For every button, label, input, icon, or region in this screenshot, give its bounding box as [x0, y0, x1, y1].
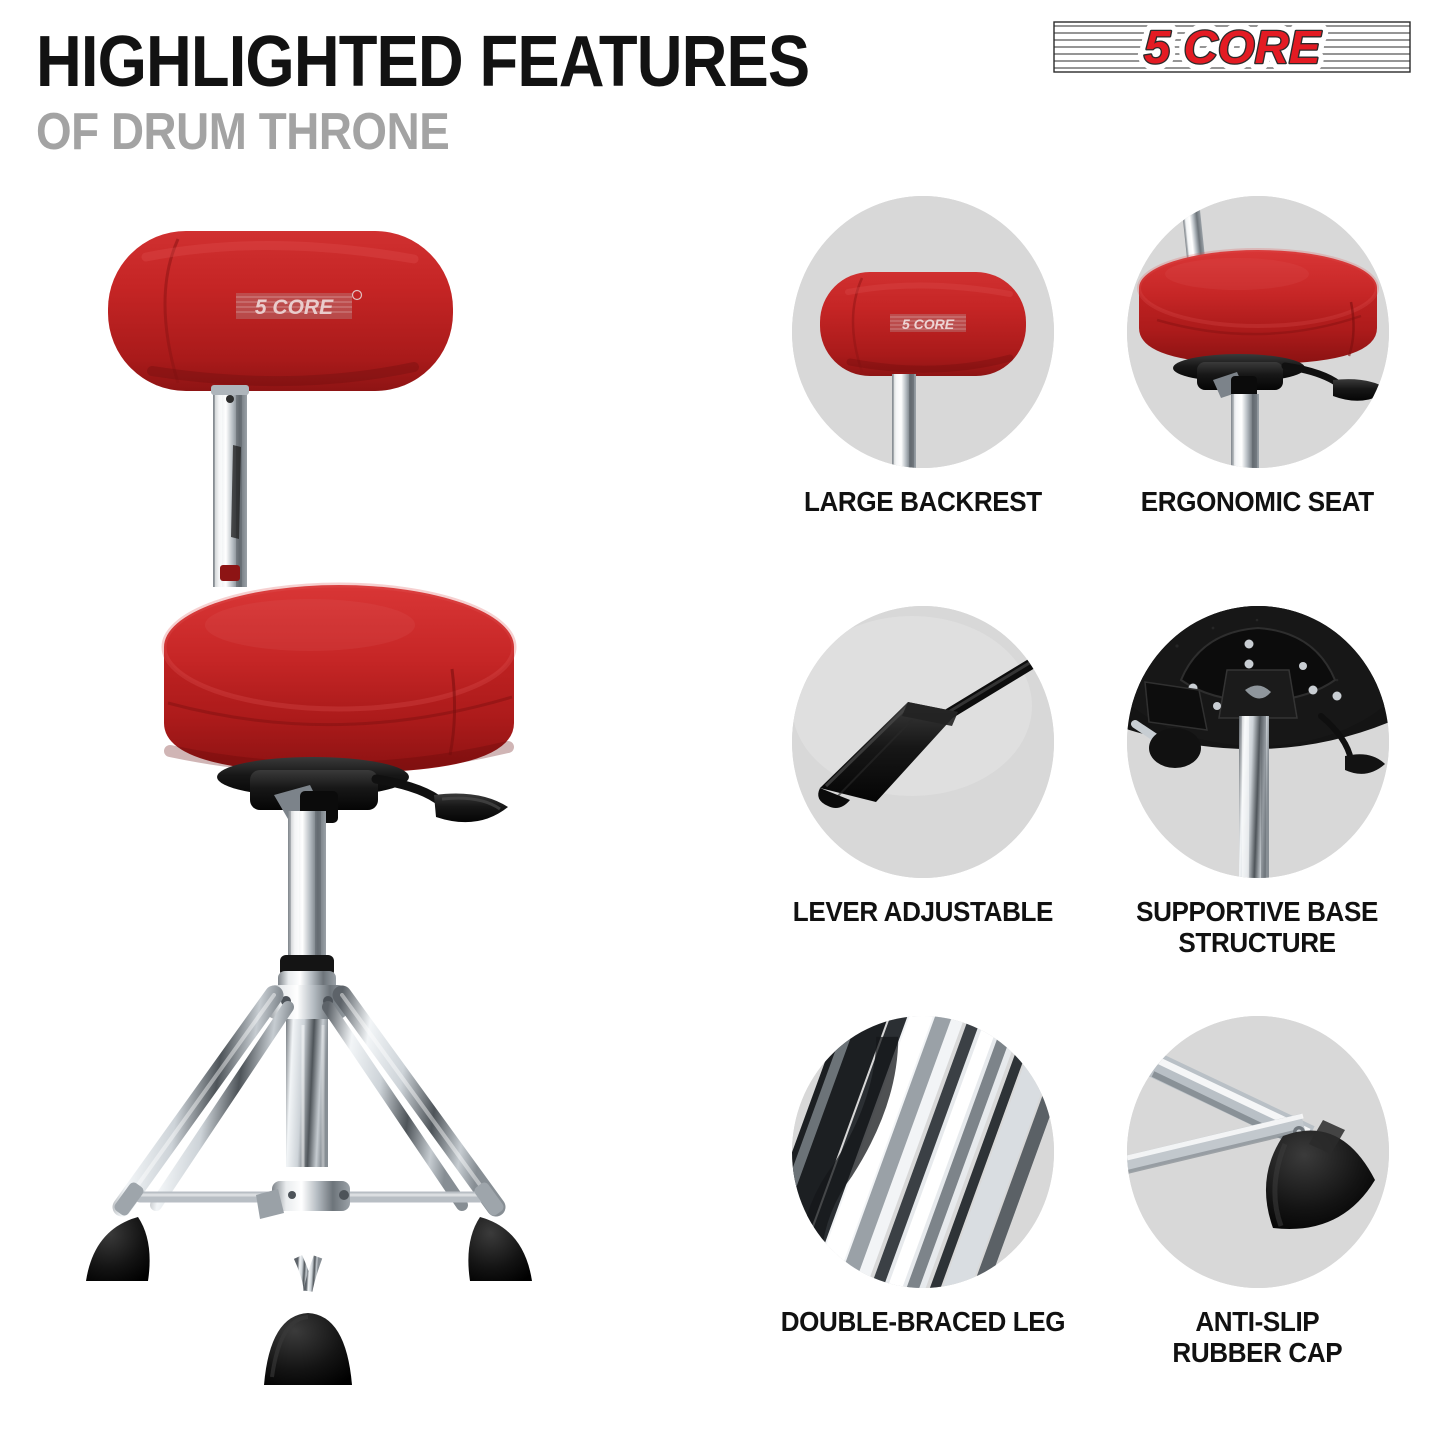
double-braced-leg-closeup-icon [792, 1016, 1054, 1288]
feature-double-braced-leg[interactable]: DOUBLE-BRACED LEG [760, 1016, 1085, 1426]
feature-lever-adjustable[interactable]: LEVER ADJUSTABLE [760, 606, 1085, 1016]
product-rubber-foot-left [86, 1217, 150, 1281]
svg-text:5 CORE: 5 CORE [901, 316, 954, 332]
title-block: HIGHLIGHTED FEATURES OF DRUM THRONE [36, 28, 915, 160]
feature-label: ANTI-SLIP RUBBER CAP [1173, 1306, 1343, 1369]
feature-supportive-base-structure[interactable]: SUPPORTIVE BASE STRUCTURE [1095, 606, 1420, 1016]
rubber-cap-closeup-icon [1127, 1016, 1389, 1288]
logo-wordmark-fill: 5 CORE [1144, 22, 1322, 73]
infographic-page: HIGHLIGHTED FEATURES OF DRUM THRONE [0, 0, 1440, 1440]
backrest-closeup-icon: 5 CORE [792, 196, 1054, 468]
feature-label: ERGONOMIC SEAT [1141, 486, 1374, 517]
base-structure-closeup-icon [1127, 606, 1389, 878]
product-backrest: 5 CORE [108, 231, 453, 391]
feature-label: SUPPORTIVE BASE STRUCTURE [1137, 896, 1379, 959]
feature-large-backrest[interactable]: 5 CORE LARGE BACKREST [760, 196, 1085, 606]
product-rubber-foot-right [468, 1217, 532, 1281]
feature-anti-slip-rubber-cap[interactable]: ANTI-SLIP RUBBER CAP [1095, 1016, 1420, 1426]
product-rubber-foot-front [264, 1313, 352, 1385]
seat-closeup-icon [1127, 196, 1389, 468]
lever-closeup-icon [792, 606, 1054, 878]
product-adjust-lever [376, 779, 508, 822]
seat-brand-emboss: 5 CORE [236, 291, 362, 320]
feature-label: LARGE BACKREST [804, 486, 1042, 517]
feature-grid: 5 CORE LARGE BACKREST [760, 196, 1420, 1426]
svg-text:5 CORE: 5 CORE [255, 296, 334, 319]
feature-label: DOUBLE-BRACED LEG [780, 1306, 1064, 1337]
page-title: HIGHLIGHTED FEATURES [36, 28, 809, 97]
brand-logo: 5 CORE 5 CORE 5 CORE [1052, 16, 1412, 78]
product-backrest-post [211, 385, 249, 587]
product-seat-mount [217, 757, 508, 823]
feature-label: LEVER ADJUSTABLE [792, 896, 1052, 927]
product-hero-image: 5 CORE [60, 195, 720, 1425]
feature-ergonomic-seat[interactable]: ERGONOMIC SEAT [1095, 196, 1420, 606]
product-seat [164, 585, 514, 773]
header: HIGHLIGHTED FEATURES OF DRUM THRONE [0, 0, 1440, 190]
page-subtitle: OF DRUM THRONE [36, 105, 809, 160]
